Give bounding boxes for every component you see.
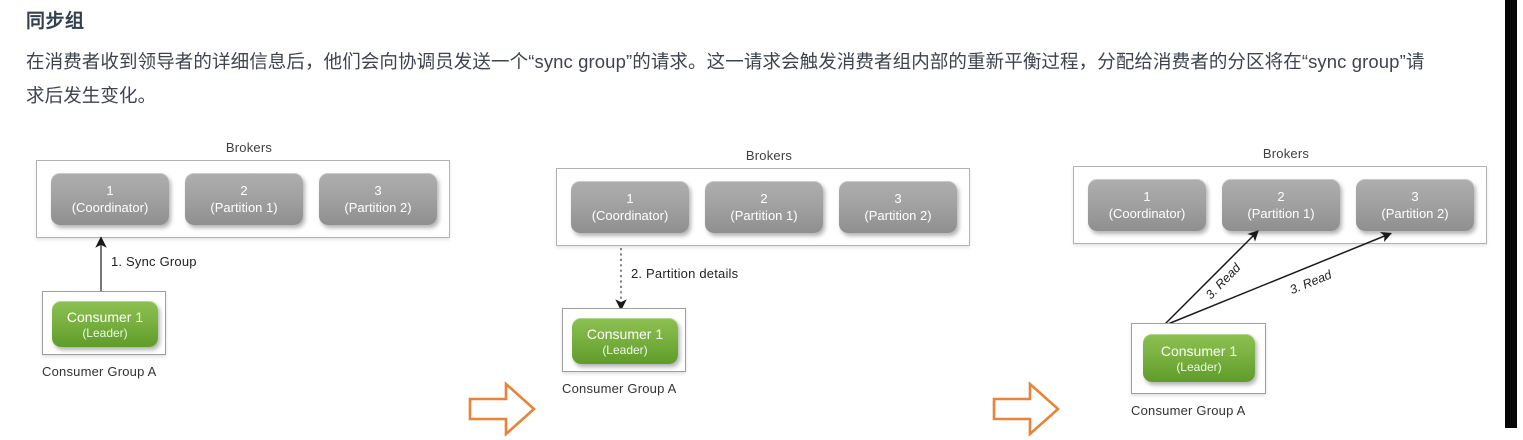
consumer-group-container: Consumer 1 (Leader)	[1131, 323, 1266, 394]
consumer-title: Consumer 1	[587, 325, 663, 343]
consumer-group-label: Consumer Group A	[1131, 403, 1245, 418]
step-arrow-2-icon	[990, 378, 1062, 440]
consumer-node: Consumer 1 (Leader)	[52, 301, 158, 347]
consumer-title: Consumer 1	[67, 308, 143, 326]
panel-2-connectors	[548, 138, 978, 418]
read-arrow-partition-1	[1163, 234, 1255, 326]
consumer-group-label: Consumer Group A	[42, 364, 156, 379]
read-arrow-partition-2	[1163, 235, 1387, 326]
flow-label-sync-group: 1. Sync Group	[111, 254, 197, 269]
page-title: 同步组	[26, 4, 1446, 36]
diagram-panel-3: Brokers 1 (Coordinator) 2 (Partition 1) …	[1065, 138, 1495, 418]
article-text-block: 同步组 在消费者收到领导者的详细信息后，他们会向协调员发送一个“sync gro…	[26, 4, 1446, 113]
consumer-node: Consumer 1 (Leader)	[1143, 334, 1255, 382]
kafka-sync-group-diagram: Brokers 1 (Coordinator) 2 (Partition 1) …	[0, 138, 1505, 418]
panel-3-connectors	[1065, 138, 1495, 418]
consumer-node: Consumer 1 (Leader)	[572, 318, 678, 364]
diagram-panel-2: Brokers 1 (Coordinator) 2 (Partition 1) …	[548, 138, 978, 418]
diagram-panel-1: Brokers 1 (Coordinator) 2 (Partition 1) …	[28, 138, 458, 418]
flow-label-partition-details: 2. Partition details	[631, 266, 738, 281]
consumer-role: (Leader)	[82, 326, 127, 341]
consumer-role: (Leader)	[1176, 360, 1221, 375]
right-edge-bar	[1505, 0, 1517, 428]
article-paragraph: 在消费者收到领导者的详细信息后，他们会向协调员发送一个“sync group”的…	[26, 36, 1426, 113]
consumer-group-container: Consumer 1 (Leader)	[562, 308, 686, 372]
consumer-role: (Leader)	[602, 343, 647, 358]
step-arrow-1-icon	[466, 378, 538, 440]
consumer-group-label: Consumer Group A	[562, 381, 676, 396]
consumer-title: Consumer 1	[1161, 342, 1237, 360]
consumer-group-container: Consumer 1 (Leader)	[42, 291, 166, 355]
right-edge-gap	[1517, 0, 1523, 428]
